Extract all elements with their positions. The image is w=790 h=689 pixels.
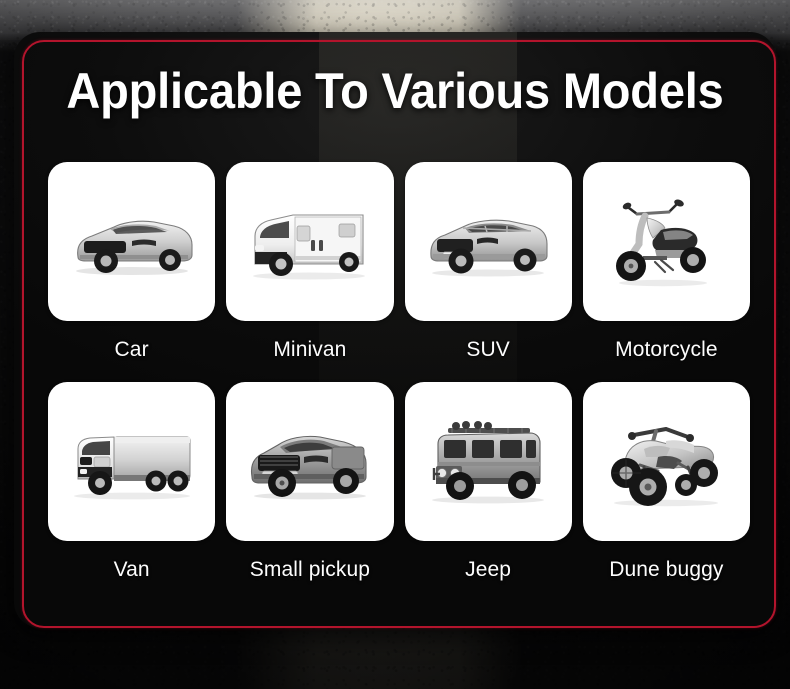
vehicle-card-minivan <box>226 162 393 321</box>
vehicle-card-suv <box>405 162 572 321</box>
vehicle-card-car <box>48 162 215 321</box>
vehicle-card-motorcycle <box>583 162 750 321</box>
vehicle-cell-van: Van <box>48 382 215 596</box>
vehicle-label: Car <box>115 338 149 362</box>
vehicle-label: SUV <box>466 338 509 362</box>
vehicle-card-van <box>48 382 215 541</box>
cargo-van-icon <box>243 200 377 284</box>
vehicle-label: Minivan <box>273 338 346 362</box>
vehicle-cell-jeep: Jeep <box>405 382 572 596</box>
suv-wagon-icon <box>421 204 555 280</box>
vehicle-label: Small pickup <box>250 558 370 582</box>
promo-banner: Applicable To Various Models <box>0 0 790 689</box>
sports-car-icon <box>66 205 198 279</box>
vehicle-cell-minivan: Minivan <box>226 162 393 376</box>
vehicle-cell-suv: SUV <box>405 162 572 376</box>
vehicle-cell-small-pickup: Small pickup <box>226 382 393 596</box>
vehicle-card-small-pickup <box>226 382 393 541</box>
offroad-jeep-icon <box>422 418 554 506</box>
vehicle-grid: Car <box>48 162 750 596</box>
scooter-icon <box>607 194 725 290</box>
vehicle-cell-motorcycle: Motorcycle <box>583 162 750 376</box>
page-title: Applicable To Various Models <box>24 62 767 120</box>
vehicle-card-dune-buggy <box>583 382 750 541</box>
vehicle-label: Dune buggy <box>609 558 723 582</box>
atv-quad-icon <box>600 415 732 509</box>
vehicle-label: Motorcycle <box>615 338 718 362</box>
vehicle-cell-car: Car <box>48 162 215 376</box>
pickup-truck-icon <box>244 421 376 503</box>
vehicle-card-jeep <box>405 382 572 541</box>
box-truck-icon <box>64 419 200 505</box>
vehicle-label: Jeep <box>465 558 511 582</box>
vehicle-cell-dune-buggy: Dune buggy <box>583 382 750 596</box>
vehicle-label: Van <box>114 558 150 582</box>
